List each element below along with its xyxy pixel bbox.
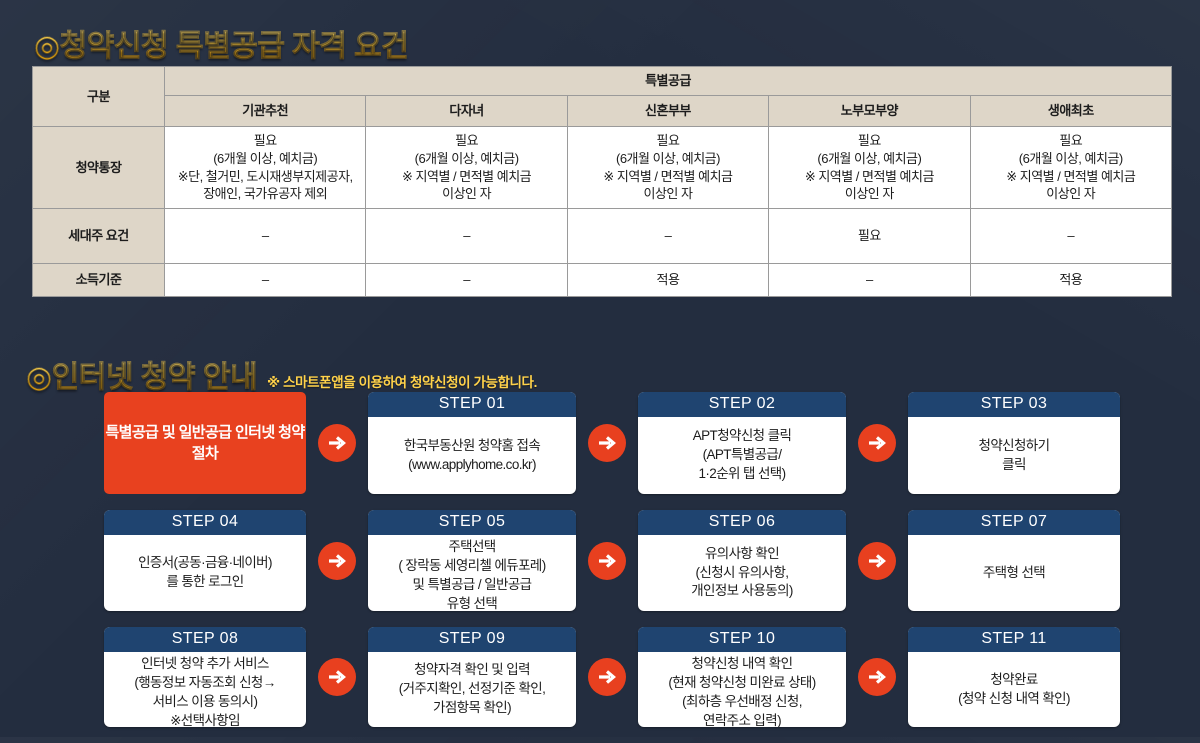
qualification-table-container: 구분 특별공급 기관추천 다자녀 신혼부부 노부모부양 생애최초 청약통장 필요… [32,66,1172,297]
step-header: STEP 02 [638,392,846,417]
step-box-04[interactable]: STEP 04 인증서(공동·금융·네이버) 를 통한 로그인 [104,510,306,611]
step-header: STEP 01 [368,392,576,417]
table-cell: 필요 (6개월 이상, 예치금) ※ 지역별 / 면적별 예치금 이상인 자 [970,127,1171,209]
table-header-row-columns: 기관추천 다자녀 신혼부부 노부모부양 생애최초 [33,96,1172,127]
arrow-right-icon [858,658,896,696]
table-head: 구분 특별공급 기관추천 다자녀 신혼부부 노부모부양 생애최초 [33,67,1172,127]
step-header: STEP 03 [908,392,1120,417]
step-body: 청약신청 내역 확인 (현재 청약신청 미완료 상태) (최하층 우선배정 신청… [638,652,846,727]
step-header: STEP 08 [104,627,306,652]
table-row-header-householder: 세대주 요건 [33,209,165,264]
table-cell: – [165,209,366,264]
step-body: 주택선택 ( 장락동 세영리첼 에듀포레) 및 특별공급 / 일반공급 유형 선… [368,535,576,611]
step-body: 유의사항 확인 (신청시 유의사항, 개인정보 사용동의) [638,535,846,611]
step-box-09[interactable]: STEP 09 청약자격 확인 및 입력 (거주지확인, 선정기준 확인, 가점… [368,627,576,727]
table-group-header-special-supply: 특별공급 [165,67,1172,96]
flow-spacer [1120,392,1200,494]
table-col-header-firsttime: 생애최초 [970,96,1171,127]
flow-arrow-1 [306,392,368,494]
step-box-10[interactable]: STEP 10 청약신청 내역 확인 (현재 청약신청 미완료 상태) (최하층… [638,627,846,727]
step-box-06[interactable]: STEP 06 유의사항 확인 (신청시 유의사항, 개인정보 사용동의) [638,510,846,611]
flow-spacer [1120,510,1200,611]
step-body: 청약신청하기 클릭 [908,417,1120,494]
table-row: 청약통장 필요 (6개월 이상, 예치금) ※단, 철거민, 도시재생부지제공자… [33,127,1172,209]
table-row: 소득기준 – – 적용 – 적용 [33,264,1172,297]
step-header: STEP 05 [368,510,576,535]
page-title: ◎청약신청 특별공급 자격 요건 [34,21,408,65]
step-body: 청약자격 확인 및 입력 (거주지확인, 선정기준 확인, 가점항목 확인) [368,652,576,727]
qualification-section-title: ◎청약신청 특별공급 자격 요건 [34,21,408,65]
internet-guide-title: ◎인터넷 청약 안내 [26,352,257,396]
table-cell: – [366,209,567,264]
flow-arrow-2 [576,392,638,494]
internet-section-title: ◎인터넷 청약 안내 ※ 스마트폰앱을 이용하여 청약신청이 가능합니다. [26,352,537,396]
flow-arrow-3 [846,392,908,494]
table-col-header-multichild: 다자녀 [366,96,567,127]
step-body: 인증서(공동·금융·네이버) 를 통한 로그인 [104,535,306,611]
table-col-header-institution: 기관추천 [165,96,366,127]
application-step-flow: 특별공급 및 일반공급 인터넷 청약 절차 STEP 01 한국부동산원 청약홈… [0,392,1200,743]
arrow-right-icon [858,424,896,462]
step-body: 한국부동산원 청약홈 접속 (www.applyhome.co.kr) [368,417,576,494]
table-cell: 필요 (6개월 이상, 예치금) ※ 지역별 / 면적별 예치금 이상인 자 [567,127,768,209]
step-box-01[interactable]: STEP 01 한국부동산원 청약홈 접속 (www.applyhome.co.… [368,392,576,494]
table-cell: – [366,264,567,297]
arrow-right-icon [318,424,356,462]
arrow-right-icon [588,658,626,696]
table-cell: – [567,209,768,264]
table-cell: – [165,264,366,297]
arrow-right-icon [858,542,896,580]
table-cell: – [769,264,970,297]
flow-row-2: STEP 04 인증서(공동·금융·네이버) 를 통한 로그인 STEP 05 … [0,510,1200,611]
table-body: 청약통장 필요 (6개월 이상, 예치금) ※단, 철거민, 도시재생부지제공자… [33,127,1172,297]
table-row: 세대주 요건 – – – 필요 – [33,209,1172,264]
table-cell: – [970,209,1171,264]
flow-arrow-6 [846,510,908,611]
table-col-header-division: 구분 [33,67,165,127]
qualification-table: 구분 특별공급 기관추천 다자녀 신혼부부 노부모부양 생애최초 청약통장 필요… [32,66,1172,297]
arrow-right-icon [318,658,356,696]
flow-arrow-9 [846,627,908,727]
arrow-right-icon [588,424,626,462]
step-box-02[interactable]: STEP 02 APT청약신청 클릭 (APT특별공급/ 1·2순위 탭 선택) [638,392,846,494]
table-col-header-elderlyparent: 노부모부양 [769,96,970,127]
step-box-05[interactable]: STEP 05 주택선택 ( 장락동 세영리첼 에듀포레) 및 특별공급 / 일… [368,510,576,611]
step-box-03[interactable]: STEP 03 청약신청하기 클릭 [908,392,1120,494]
step-box-08[interactable]: STEP 08 인터넷 청약 추가 서비스 (행동정보 자동조회 신청→ 서비스… [104,627,306,727]
table-cell: 적용 [567,264,768,297]
table-cell: 필요 (6개월 이상, 예치금) ※ 지역별 / 면적별 예치금 이상인 자 [366,127,567,209]
step-header: STEP 11 [908,627,1120,652]
flow-arrow-7 [306,627,368,727]
internet-guide-note: ※ 스마트폰앱을 이용하여 청약신청이 가능합니다. [267,371,537,391]
flow-arrow-8 [576,627,638,727]
table-row-header-passbook: 청약통장 [33,127,165,209]
table-header-row-group: 구분 특별공급 [33,67,1172,96]
step-header: STEP 10 [638,627,846,652]
step-body: APT청약신청 클릭 (APT특별공급/ 1·2순위 탭 선택) [638,417,846,494]
table-cell: 적용 [970,264,1171,297]
step-body: 청약완료 (청약 신청 내역 확인) [908,652,1120,727]
flow-arrow-5 [576,510,638,611]
flow-intro-box: 특별공급 및 일반공급 인터넷 청약 절차 [104,392,306,494]
step-header: STEP 06 [638,510,846,535]
arrow-right-icon [588,542,626,580]
table-cell: 필요 (6개월 이상, 예치금) ※ 지역별 / 면적별 예치금 이상인 자 [769,127,970,209]
flow-row-3: STEP 08 인터넷 청약 추가 서비스 (행동정보 자동조회 신청→ 서비스… [0,627,1200,727]
table-cell: 필요 (6개월 이상, 예치금) ※단, 철거민, 도시재생부지제공자, 장애인… [165,127,366,209]
step-header: STEP 09 [368,627,576,652]
flow-row-1: 특별공급 및 일반공급 인터넷 청약 절차 STEP 01 한국부동산원 청약홈… [0,392,1200,494]
step-body: 인터넷 청약 추가 서비스 (행동정보 자동조회 신청→ 서비스 이용 동의시)… [104,652,306,727]
flow-spacer [1120,627,1200,727]
step-header: STEP 07 [908,510,1120,535]
flow-arrow-4 [306,510,368,611]
table-cell: 필요 [769,209,970,264]
step-box-07[interactable]: STEP 07 주택형 선택 [908,510,1120,611]
table-row-header-income: 소득기준 [33,264,165,297]
step-box-11[interactable]: STEP 11 청약완료 (청약 신청 내역 확인) [908,627,1120,727]
table-col-header-newlywed: 신혼부부 [567,96,768,127]
step-header: STEP 04 [104,510,306,535]
arrow-right-icon [318,542,356,580]
step-body: 주택형 선택 [908,535,1120,611]
